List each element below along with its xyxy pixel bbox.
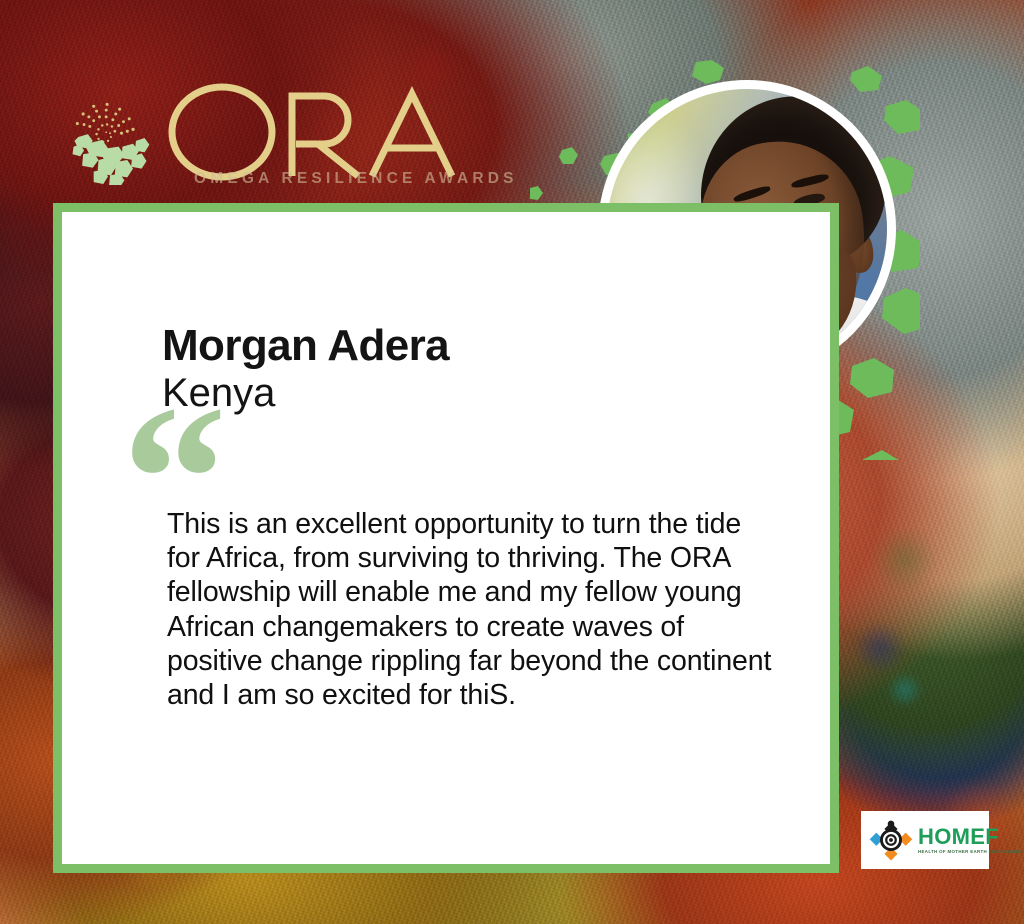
homef-name: HOMEF bbox=[918, 826, 1021, 848]
ora-tagline: OMEGA RESILIENCE AWARDS bbox=[194, 170, 518, 188]
nautilus-spiral-icon bbox=[62, 89, 158, 185]
homef-partner-badge: HOMEF HEALTH OF MOTHER EARTH FOUNDATION bbox=[861, 811, 989, 869]
quote-text: This is an excellent opportunity to turn… bbox=[167, 507, 777, 712]
ora-logo: OMEGA RESILIENCE AWARDS bbox=[62, 78, 482, 196]
homef-subtitle: HEALTH OF MOTHER EARTH FOUNDATION bbox=[918, 850, 1021, 854]
quote-card-inner: Morgan Adera Kenya “ This is an excellen… bbox=[62, 212, 830, 864]
poster-canvas: OMEGA RESILIENCE AWARDS Morgan Adera Ken… bbox=[0, 0, 1024, 924]
quote-card: Morgan Adera Kenya “ This is an excellen… bbox=[53, 203, 839, 873]
homef-target-figure-icon bbox=[869, 818, 913, 862]
